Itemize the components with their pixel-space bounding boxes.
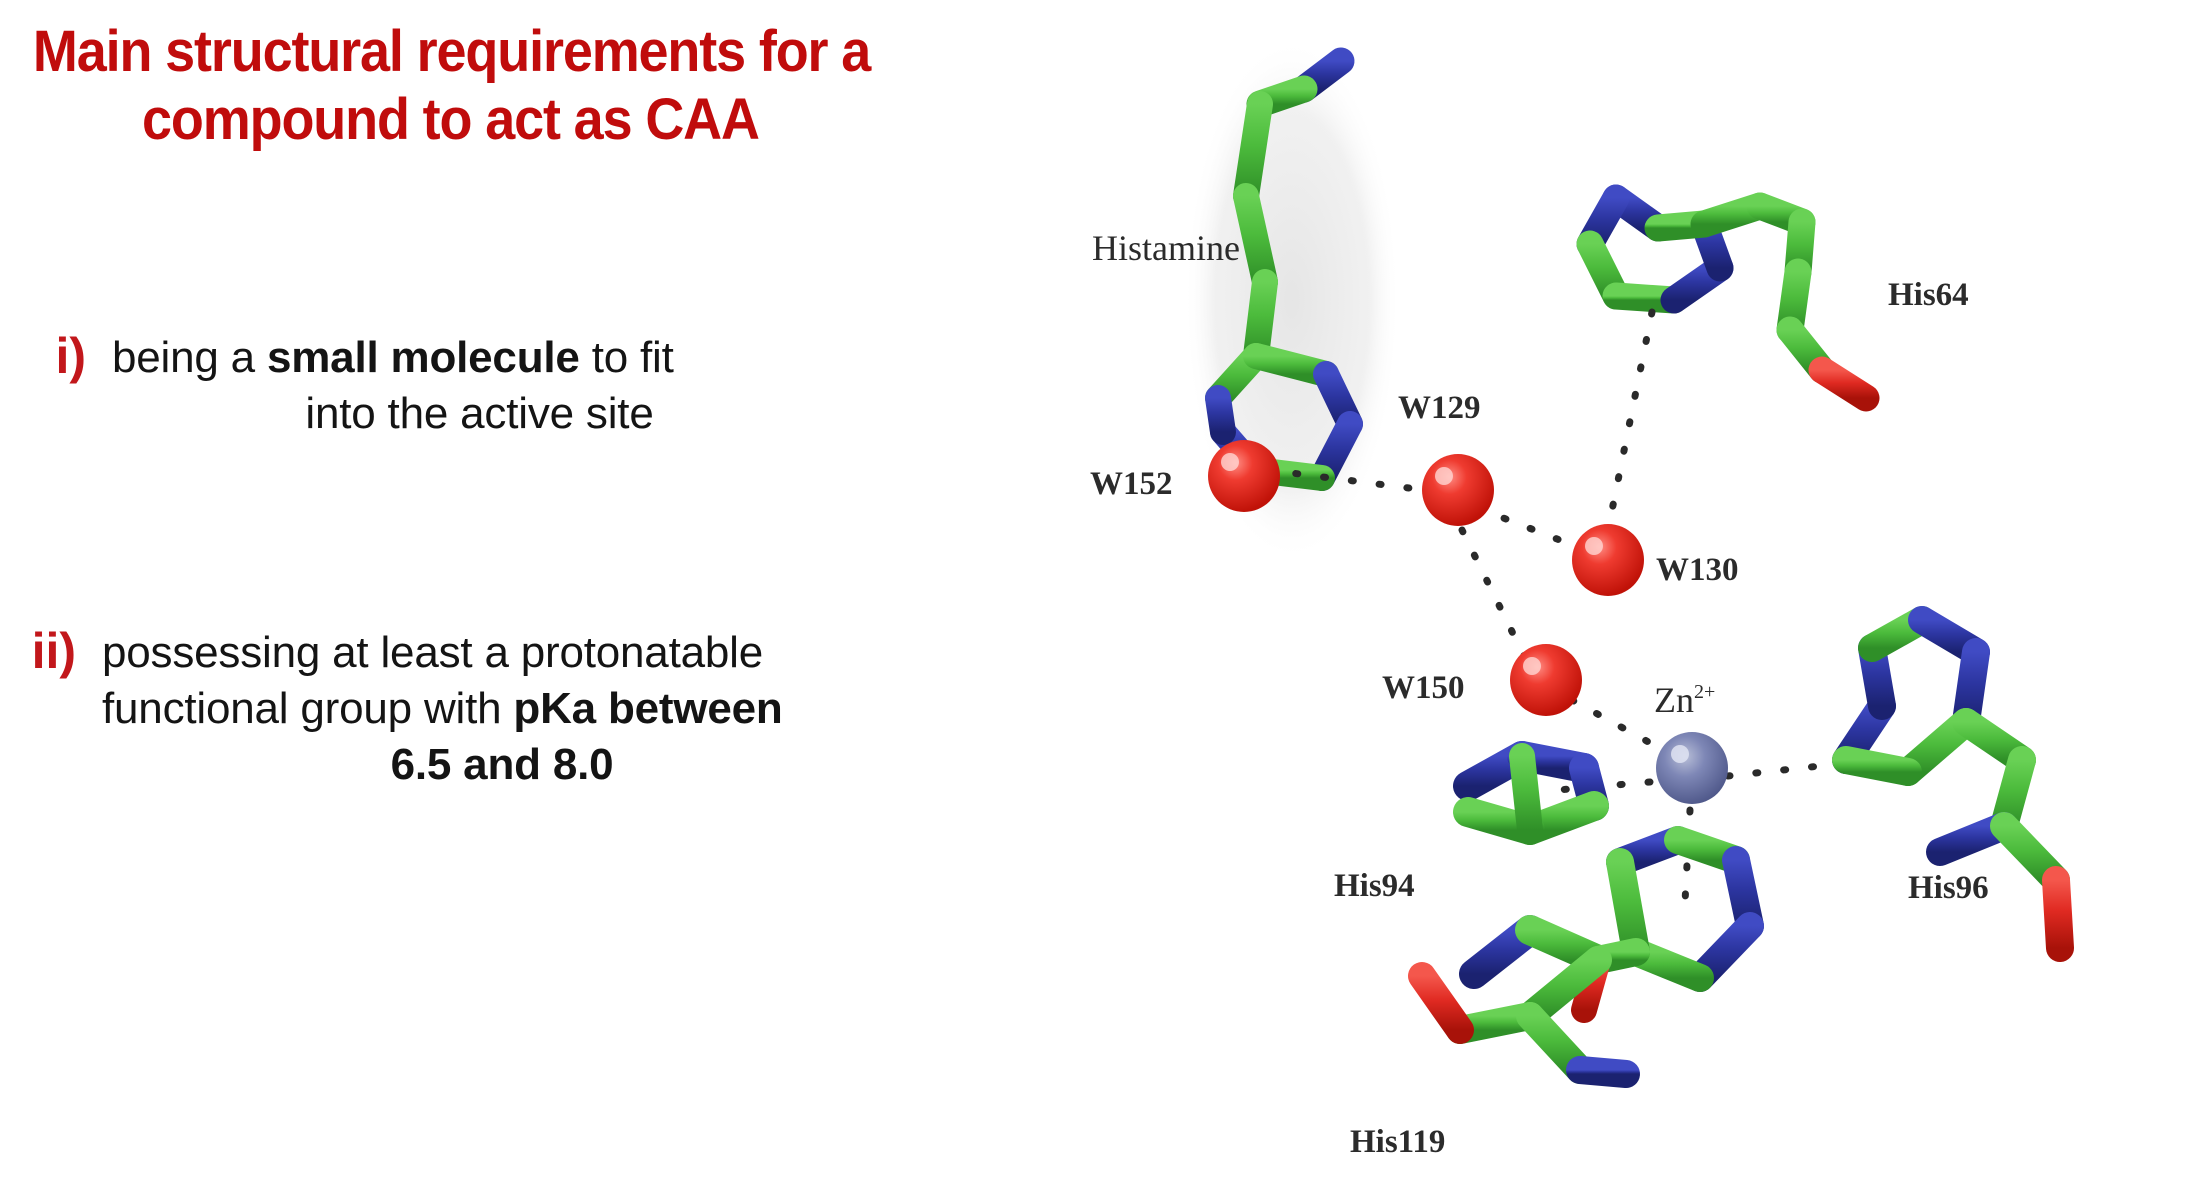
label-w130: W130 [1656,552,1739,588]
his119-residue [1422,840,1750,1074]
water-w150 [1510,644,1582,716]
label-zn: Zn2+ [1654,680,1715,720]
his94-residue [1468,756,1598,974]
label-w152: W152 [1090,466,1173,502]
bullet-i-line1-post: to fit [580,333,674,382]
label-his119: His119 [1350,1124,1445,1160]
label-zn-charge: 2+ [1694,681,1715,703]
label-w150: W150 [1382,670,1465,706]
bullet-text-ii: possessing at least a protonatable funct… [102,625,902,793]
label-his64: His64 [1888,277,1969,313]
bullet-marker-ii: ii) [10,625,102,678]
hbond-zn-his96 [1728,766,1820,776]
label-zn-element: Zn [1654,680,1694,720]
label-his94: His94 [1334,868,1415,904]
bullet-ii-line2-pre: functional group with [102,684,513,733]
bullet-i-line1-bold: small molecule [267,333,580,382]
hbond-w129-w150 [1462,530,1526,660]
label-w129: W129 [1398,390,1481,426]
page-title-line-2: compound to act as CAA [18,86,883,154]
bullet-ii-line3-bold: 6.5 and 8.0 [391,740,614,789]
list-item: ii) possessing at least a protonatable f… [10,625,970,793]
bullet-i-line2: into the active site [112,386,847,442]
zinc-ion [1656,732,1728,804]
list-item: i) being a small molecule to fit into th… [20,330,900,442]
water-w129 [1422,454,1494,526]
slide-text-panel: Main structural requirements for a compo… [0,0,1060,1192]
bullet-ii-line2-bold: pKa between [513,684,782,733]
hbond-w129-w130 [1478,508,1580,548]
hbond-his64-w130 [1608,312,1652,530]
molecular-structure-figure: Histamine His64 W152 W129 [1060,0,2200,1192]
bullet-i-line1-pre: being a [112,333,267,382]
bullet-marker-i: i) [20,330,112,383]
label-his96: His96 [1908,870,1989,906]
his64-residue [1590,198,1866,398]
bullet-text-i: being a small molecule to fit into the a… [112,330,847,442]
water-w130 [1572,524,1644,596]
hbond-zn-his119 [1684,810,1690,920]
water-w152 [1208,440,1280,512]
label-histamine: Histamine [1092,228,1240,268]
bullet-ii-line1: possessing at least a protonatable [102,625,902,681]
page-title-line-1: Main structural requirements for a [33,18,948,86]
page-title: Main structural requirements for a compo… [18,18,948,155]
